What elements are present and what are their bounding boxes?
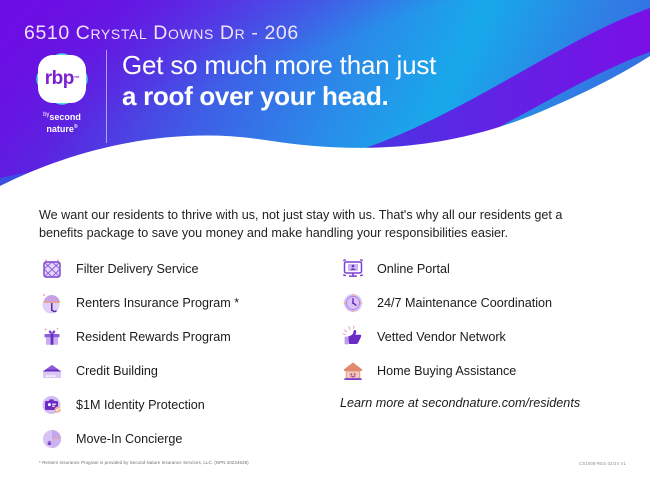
logo-wordmark-text: rbp (45, 68, 74, 90)
benefits-column-left: Filter Delivery Service Renters Insuranc… (39, 252, 339, 456)
benefit-label: Renters Insurance Program * (76, 296, 239, 310)
benefit-online-portal: Online Portal (340, 252, 640, 286)
logo-trademark: ™ (74, 76, 80, 82)
benefit-move-in-concierge: Move-In Concierge (39, 422, 339, 456)
id-badge-icon (39, 392, 65, 418)
gift-icon (39, 324, 65, 350)
monitor-icon (340, 256, 366, 282)
benefit-resident-rewards-program: Resident Rewards Program (39, 320, 339, 354)
umbrella-icon (39, 290, 65, 316)
benefit-identity-protection: $1M Identity Protection (39, 388, 339, 422)
property-address: 6510 Crystal Downs Dr - 206 (24, 22, 299, 45)
footnote-disclaimer: * Renters Insurance Program is provided … (39, 460, 249, 465)
benefit-label: Resident Rewards Program (76, 330, 231, 344)
benefit-filter-delivery-service: Filter Delivery Service (39, 252, 339, 286)
hero-headline: Get so much more than just a roof over y… (122, 50, 592, 112)
benefit-label: Vetted Vendor Network (377, 330, 506, 344)
benefit-label: Filter Delivery Service (76, 262, 198, 276)
benefit-label: Credit Building (76, 364, 158, 378)
banner-divider (106, 50, 107, 143)
logo-registered: ® (74, 124, 78, 130)
headline-line-1: Get so much more than just (122, 50, 592, 80)
benefits-column-right: Online Portal 24/7 Maintenance Coordinat… (340, 252, 640, 388)
benefit-credit-building: Credit Building (39, 354, 339, 388)
benefit-vetted-vendor-network: Vetted Vendor Network (340, 320, 640, 354)
benefit-label: Move-In Concierge (76, 432, 182, 446)
logo-nature-text: nature (46, 124, 74, 134)
rbp-logo-mark: rbp™ (31, 50, 93, 108)
learn-more-text: Learn more at secondnature.com/residents (340, 396, 650, 410)
clock-icon (340, 290, 366, 316)
footnote-document-code: CS1008-RES 02/24 V1 (579, 461, 626, 466)
logo-second-text: second (49, 112, 81, 122)
logo-wordmark: rbp™ (31, 50, 93, 108)
benefit-label: Online Portal (377, 262, 450, 276)
headline-line-2: a roof over your head. (122, 80, 592, 112)
filter-icon (39, 256, 65, 282)
benefit-label: 24/7 Maintenance Coordination (377, 296, 552, 310)
thumbs-up-icon (340, 324, 366, 350)
benefit-home-buying-assistance: Home Buying Assistance (340, 354, 640, 388)
rbp-benefits-flyer: 6510 Crystal Downs Dr - 206 rbp™ bysecon… (0, 0, 650, 488)
house-icon (340, 358, 366, 384)
concierge-circle-icon (39, 426, 65, 452)
intro-paragraph: We want our residents to thrive with us,… (39, 206, 599, 242)
benefit-renters-insurance-program: Renters Insurance Program * (39, 286, 339, 320)
benefit-label: Home Buying Assistance (377, 364, 516, 378)
credit-card-envelope-icon (39, 358, 65, 384)
benefit-maintenance-coordination: 24/7 Maintenance Coordination (340, 286, 640, 320)
logo-subbrand: bysecond nature® (26, 110, 98, 134)
rbp-logo: rbp™ bysecond nature® (26, 50, 98, 134)
hero-banner: 6510 Crystal Downs Dr - 206 rbp™ bysecon… (0, 0, 650, 200)
benefit-label: $1M Identity Protection (76, 398, 205, 412)
